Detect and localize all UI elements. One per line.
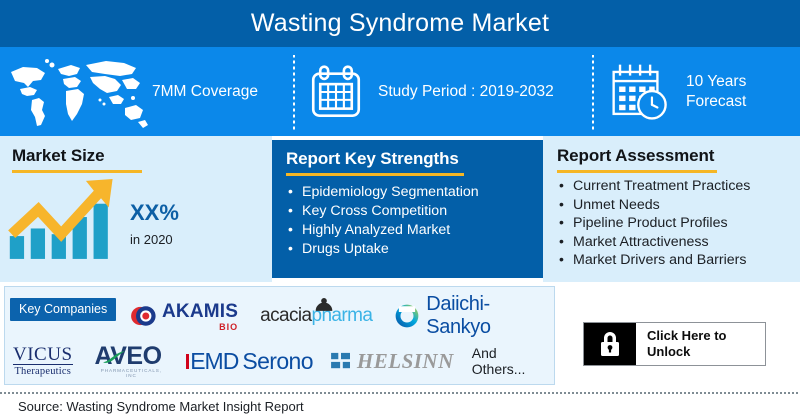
fact-coverage: 7MM Coverage <box>0 47 294 136</box>
emd-red-bar-icon <box>186 354 189 369</box>
logo-akamis-text: AKAMIS <box>162 301 238 323</box>
acacia-mark-icon <box>314 298 334 312</box>
list-item: Unmet Needs <box>559 196 800 215</box>
market-size-rule <box>12 170 142 173</box>
fact-coverage-label: 7MM Coverage <box>152 82 258 101</box>
infographic-root: Wasting Syndrome Market <box>0 0 800 420</box>
lock-icon <box>584 323 636 365</box>
page-title: Wasting Syndrome Market <box>251 9 549 38</box>
logo-helsinn-text: HELSINN <box>357 349 454 374</box>
logo-emd-text: EMD <box>190 348 238 375</box>
logo-akamis-bio: AKAMIS BIO <box>129 301 238 332</box>
key-strengths-heading: Report Key Strengths <box>286 149 543 169</box>
key-companies-box: Key Companies AKAMIS BIO <box>4 286 555 385</box>
fact-study-period-label: Study Period : 2019-2032 <box>378 82 554 101</box>
fact-study-period: Study Period : 2019-2032 <box>294 47 594 136</box>
footer-divider <box>0 392 800 394</box>
list-item: Highly Analyzed Market <box>288 221 543 240</box>
fact-forecast-label: 10 Years Forecast <box>686 72 746 111</box>
key-companies-badge: Key Companies <box>10 298 116 321</box>
panel-report-assessment: Report Assessment Current Treatment Prac… <box>543 136 800 282</box>
logo-akamis-sub: BIO <box>162 322 238 332</box>
unlock-label: Click Here to Unlock <box>636 323 765 365</box>
list-item: Pipeline Product Profiles <box>559 214 800 233</box>
logo-aveo: AVEO PHARMACEUTICALS, INC <box>95 344 169 378</box>
facts-strip: 7MM Coverage Study Period : 2019-2032 <box>0 47 800 136</box>
market-size-values: XX% in 2020 <box>130 200 179 261</box>
list-item: Market Attractiveness <box>559 233 800 252</box>
calendar-clock-icon <box>608 61 674 123</box>
list-item: Key Cross Competition <box>288 202 543 221</box>
helsinn-mark-icon <box>331 352 351 370</box>
growth-bar-chart-arrow-icon <box>6 175 124 261</box>
assessment-heading: Report Assessment <box>557 146 800 166</box>
akamis-bio-mark-icon <box>129 302 157 330</box>
daiichi-sankyo-mark-icon <box>394 303 420 329</box>
panel-report-key-strengths: Report Key Strengths Epidemiology Segmen… <box>272 140 543 278</box>
logo-acacia-text: acacia <box>260 305 311 327</box>
logo-acaciapharma: acacia pharma <box>260 305 372 327</box>
assessment-rule <box>557 170 717 173</box>
logo-vicus-therapeutics: VICUS Therapeutics <box>13 346 73 377</box>
market-size-percent: XX% <box>130 200 179 226</box>
fact-forecast: 10 Years Forecast <box>594 47 800 136</box>
world-map-icon <box>2 50 152 134</box>
market-size-body: XX% in 2020 <box>0 175 272 261</box>
key-strengths-list: Epidemiology Segmentation Key Cross Comp… <box>288 183 543 259</box>
logo-daiichi-text: Daiichi-Sankyo <box>426 293 554 339</box>
company-logo-row-1: AKAMIS BIO acacia pharma <box>129 293 554 339</box>
market-size-heading: Market Size <box>12 146 272 166</box>
list-item: Current Treatment Practices <box>559 177 800 196</box>
logo-emd-serono: EMD Serono <box>186 348 313 375</box>
key-strengths-rule <box>286 173 464 176</box>
logo-serono-text: Serono <box>242 348 313 375</box>
source-note: Source: Wasting Syndrome Market Insight … <box>18 399 304 414</box>
logo-aveo-sub: PHARMACEUTICALS, INC <box>95 368 169 378</box>
calendar-icon <box>308 63 364 121</box>
list-item: Market Drivers and Barriers <box>559 251 800 270</box>
market-size-year: in 2020 <box>130 232 179 247</box>
title-bar: Wasting Syndrome Market <box>0 0 800 47</box>
company-logo-row-2: VICUS Therapeutics AVEO PHARMACEUTICALS,… <box>13 339 554 383</box>
assessment-list: Current Treatment Practices Unmet Needs … <box>559 177 800 270</box>
logo-helsinn: HELSINN <box>331 349 454 374</box>
logo-vicus-sub: Therapeutics <box>13 364 73 377</box>
logo-daiichi-sankyo: Daiichi-Sankyo <box>394 293 554 339</box>
logo-vicus-text: VICUS <box>13 346 73 364</box>
panels-section: Market Size XX% in 2020 <box>0 136 800 282</box>
list-item: Drugs Uptake <box>288 240 543 259</box>
aveo-swoosh-icon <box>103 350 125 364</box>
and-others-label: And Others... <box>472 345 554 377</box>
panel-market-size: Market Size XX% in 2020 <box>0 136 272 282</box>
list-item: Epidemiology Segmentation <box>288 183 543 202</box>
unlock-button[interactable]: Click Here to Unlock <box>583 322 766 366</box>
